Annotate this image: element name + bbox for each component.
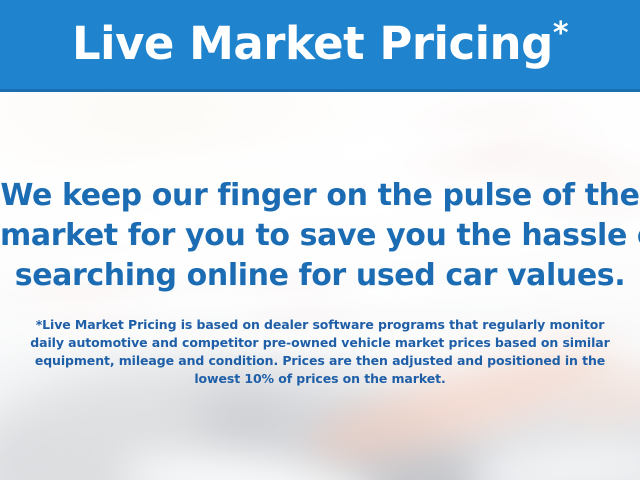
page-title: Live Market Pricing* (72, 21, 568, 69)
page-title-text: Live Market Pricing (72, 17, 553, 70)
headline-line-3: searching online for used car values. (0, 256, 640, 296)
disclaimer-block: *Live Market Pricing is based on dealer … (20, 316, 620, 388)
headline-block: We keep our finger on the pulse of the m… (0, 176, 640, 296)
headline-line-2: market for you to save you the hassle of (0, 216, 640, 256)
marketing-slide: Live Market Pricing* We keep our finger … (0, 0, 640, 480)
disclaimer-line-2: daily automotive and competitor pre-owne… (20, 334, 620, 352)
page-title-asterisk: * (553, 16, 568, 51)
headline-line-1: We keep our finger on the pulse of the (0, 176, 640, 216)
header-banner: Live Market Pricing* (0, 0, 640, 92)
disclaimer-line-3: equipment, mileage and condition. Prices… (20, 352, 620, 370)
disclaimer-line-1: *Live Market Pricing is based on dealer … (20, 316, 620, 334)
disclaimer-line-4: lowest 10% of prices on the market. (20, 370, 620, 388)
